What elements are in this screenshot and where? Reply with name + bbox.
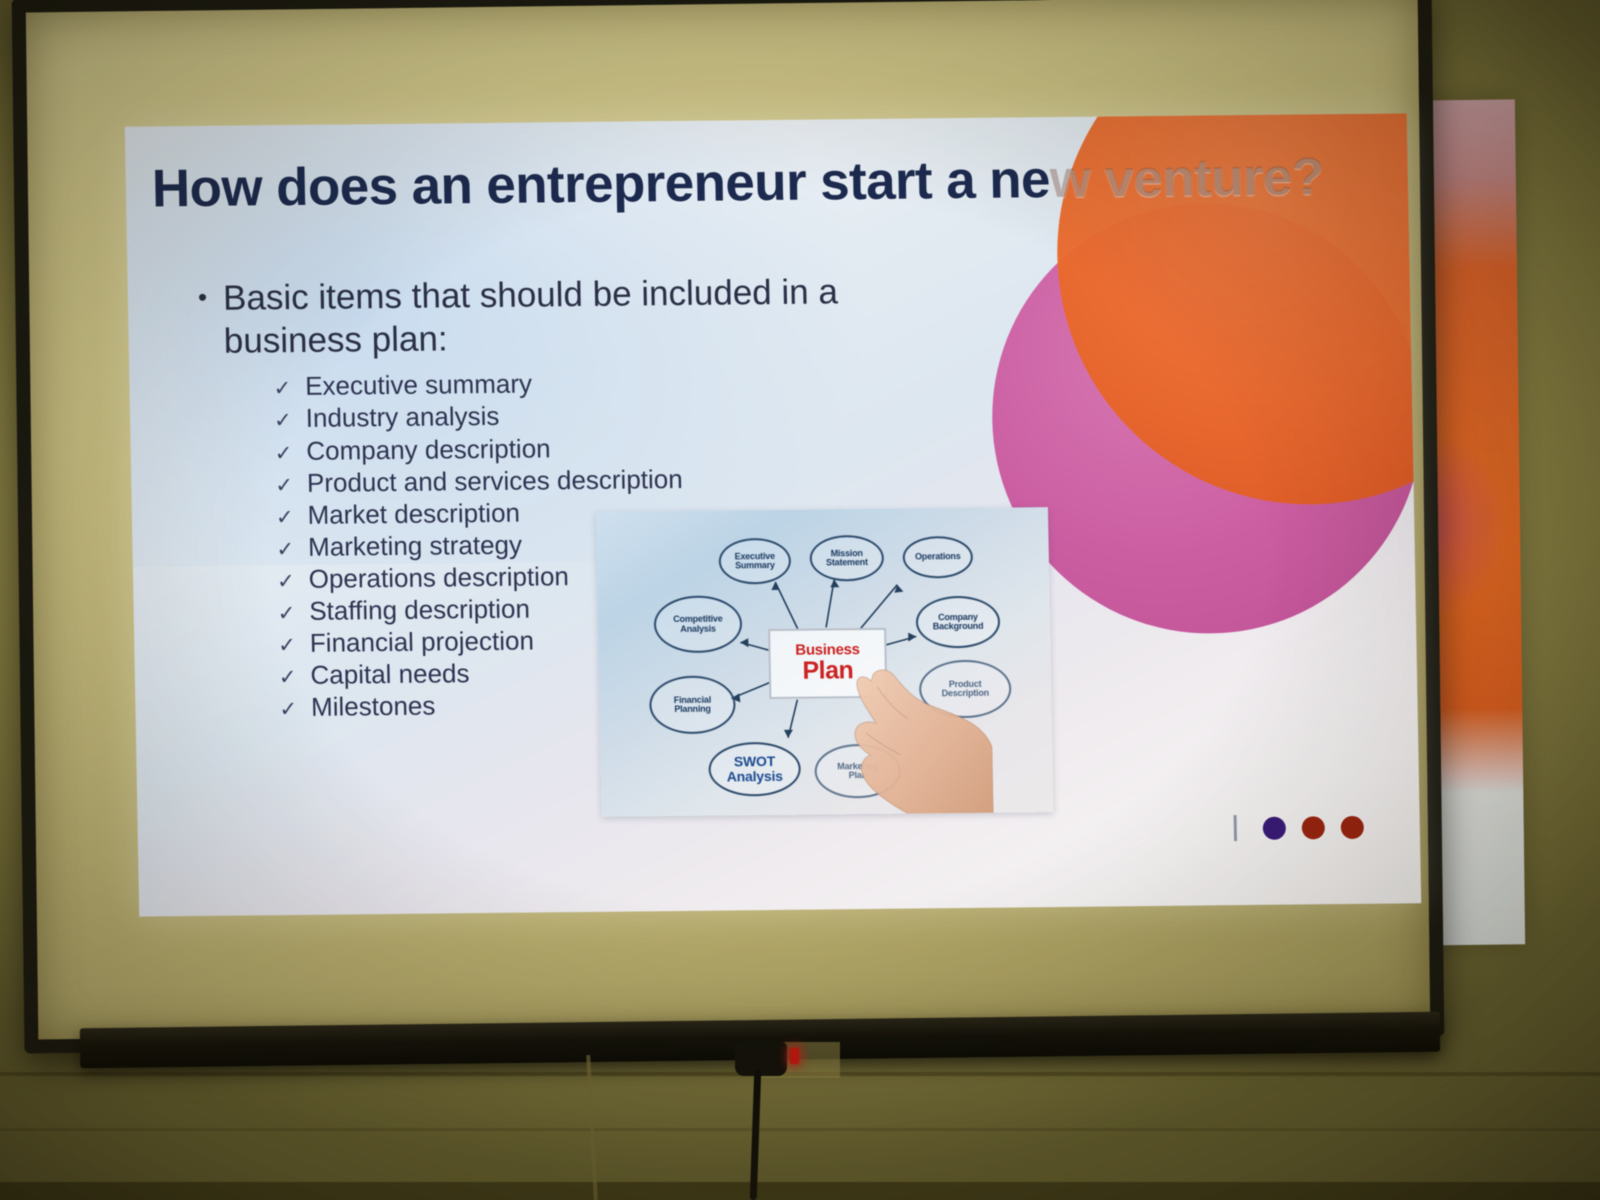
wall-panel-line-2 (0, 1128, 1600, 1131)
check-icon: ✓ (278, 633, 296, 659)
bullet-dot-icon: • (198, 278, 208, 317)
node-line-2: Analysis (727, 769, 783, 784)
lead-bullet-text: Basic items that should be included in a… (223, 271, 865, 363)
check-icon: ✓ (274, 409, 292, 435)
list-item-label: Operations description (308, 560, 569, 595)
lead-bullet: • Basic items that should be included in… (198, 270, 940, 363)
list-item-label: Staffing description (309, 593, 530, 627)
node-line-2: Description (942, 689, 989, 699)
list-item-label: Financial projection (310, 625, 535, 659)
check-icon: ✓ (276, 537, 294, 563)
check-icon: ✓ (279, 665, 297, 691)
list-item-label: Company description (306, 432, 551, 467)
check-icon: ✓ (276, 505, 294, 531)
check-icon: ✓ (277, 601, 295, 627)
nav-dot-2[interactable] (1302, 816, 1325, 839)
check-icon: ✓ (273, 376, 291, 402)
power-plug (735, 1042, 787, 1076)
check-icon: ✓ (275, 441, 293, 467)
wall-panel-line-3 (0, 1182, 1600, 1200)
list-item-label: Industry analysis (305, 400, 499, 434)
power-led-indicator (790, 1048, 799, 1064)
slide-body: • Basic items that should be included in… (198, 270, 946, 724)
check-icon: ✓ (275, 473, 293, 499)
checklist: ✓ Executive summary ✓ Industry analysis … (273, 364, 945, 724)
nav-divider-bar (1234, 815, 1237, 841)
classroom-scene: How does an entrepreneur start a new ven… (0, 0, 1600, 1200)
list-item-label: Market description (307, 496, 520, 530)
node-line-2: Plan (849, 771, 867, 781)
nav-dot-3[interactable] (1341, 815, 1364, 838)
projected-slide: How does an entrepreneur start a new ven… (125, 113, 1421, 916)
check-icon: ✓ (277, 569, 295, 595)
list-item-label: Milestones (311, 690, 436, 723)
list-item-label: Executive summary (305, 368, 532, 402)
list-item-label: Product and services description (307, 463, 683, 499)
check-icon: ✓ (279, 697, 297, 723)
list-item-label: Capital needs (310, 658, 470, 692)
power-cable (750, 1070, 762, 1200)
nav-dot-1[interactable] (1263, 816, 1286, 839)
slide-title-visible: How does an entrepreneur start a ne (151, 150, 1050, 218)
slide-title-obscured: w venture? (1049, 147, 1324, 209)
slide-nav-dots[interactable] (1234, 814, 1364, 841)
list-item-label: Marketing strategy (308, 529, 522, 563)
